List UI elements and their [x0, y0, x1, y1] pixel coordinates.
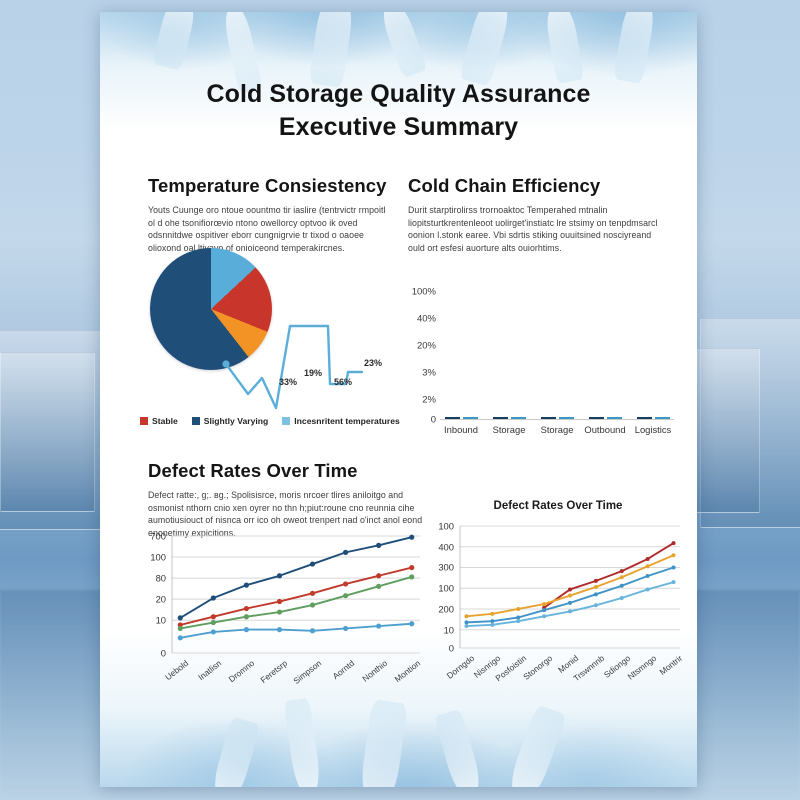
- line-chart-right: Defect Rates Over Time100400300100200100…: [430, 500, 686, 700]
- bar[interactable]: [493, 417, 508, 419]
- legend-label: Slightly Varying: [204, 416, 268, 426]
- bar-y-tick: 2%: [422, 394, 436, 405]
- bar[interactable]: [445, 417, 460, 419]
- line-y-tick: 0: [140, 648, 166, 659]
- bar[interactable]: [637, 417, 652, 419]
- data-point: [409, 621, 414, 626]
- line-y-tick: 300: [430, 562, 454, 573]
- data-point: [516, 607, 520, 611]
- data-point: [343, 550, 348, 555]
- line-y-tick: 0: [430, 643, 454, 654]
- data-point: [620, 569, 624, 573]
- data-point: [464, 624, 468, 628]
- bar-y-tick: 20%: [417, 340, 436, 351]
- section-temperature-consistency: Temperature Consiestency Youts Cuunge or…: [148, 175, 393, 254]
- data-point: [672, 565, 676, 569]
- data-point: [594, 603, 598, 607]
- line-chart-left: 7001008020100UeboldInatlisnDromnoFeretsr…: [140, 530, 428, 705]
- bar-y-tick: 40%: [417, 313, 436, 324]
- data-point: [464, 620, 468, 624]
- data-point: [409, 565, 414, 570]
- title-line-2: Executive Summary: [100, 111, 697, 144]
- data-point: [244, 614, 249, 619]
- bar-x-label: Logistics: [632, 424, 674, 435]
- line-y-tick: 100: [140, 552, 166, 563]
- data-point: [310, 591, 315, 596]
- data-point: [620, 575, 624, 579]
- data-point: [464, 614, 468, 618]
- bar-group[interactable]: [440, 417, 482, 419]
- bar-chart: 100%40%20%3%2%0 InboundStorageStorageOut…: [400, 282, 680, 457]
- bar-group[interactable]: [584, 417, 626, 419]
- data-point: [343, 626, 348, 631]
- data-point: [277, 627, 282, 632]
- data-point: [594, 592, 598, 596]
- data-point: [672, 553, 676, 557]
- data-point: [490, 612, 494, 616]
- data-point: [211, 620, 216, 625]
- data-point: [376, 573, 381, 578]
- data-point: [490, 619, 494, 623]
- data-point: [672, 541, 676, 545]
- data-point: [376, 584, 381, 589]
- line-series: [466, 555, 673, 616]
- legend-label: Incesnritent temperatures: [294, 416, 400, 426]
- data-point: [343, 581, 348, 586]
- legend-item-stable: Stable: [140, 416, 178, 426]
- data-point: [211, 595, 216, 600]
- data-point: [542, 602, 546, 606]
- data-point: [568, 594, 572, 598]
- line-y-tick: 100: [430, 521, 454, 532]
- legend-item-slightly-varying: Slightly Varying: [192, 416, 268, 426]
- data-point: [409, 574, 414, 579]
- data-point: [244, 583, 249, 588]
- data-point: [178, 626, 183, 631]
- data-point: [178, 615, 183, 620]
- line-y-tick: 80: [140, 573, 166, 584]
- pie-pct-label-4: 23%: [364, 358, 382, 368]
- data-point: [277, 573, 282, 578]
- title-line-1: Cold Storage Quality Assurance: [100, 78, 697, 111]
- data-point: [594, 579, 598, 583]
- data-point: [244, 606, 249, 611]
- data-point: [620, 596, 624, 600]
- pie-chart-legend: Stable Slightly Varying Incesnritent tem…: [140, 416, 440, 426]
- line-y-tick: 400: [430, 541, 454, 552]
- legend-swatch-icon: [192, 417, 200, 425]
- bar-x-label: Outbound: [584, 424, 626, 435]
- data-point: [211, 629, 216, 634]
- data-point: [310, 561, 315, 566]
- line-y-tick: 20: [140, 594, 166, 605]
- line-chart-plot: [140, 530, 428, 705]
- section-heading: Defect Rates Over Time: [148, 460, 423, 482]
- data-point: [310, 628, 315, 633]
- pie-callout-line: [140, 244, 410, 444]
- data-point: [594, 585, 598, 589]
- section-body-text: Durit starptirolirss trornoaktoc Tempera…: [408, 204, 666, 254]
- data-point: [620, 584, 624, 588]
- data-point: [646, 587, 650, 591]
- data-point: [277, 599, 282, 604]
- pie-pct-label-2: 19%: [304, 368, 322, 378]
- bar[interactable]: [655, 417, 670, 419]
- legend-swatch-icon: [140, 417, 148, 425]
- legend-swatch-icon: [282, 417, 290, 425]
- bar-chart-plot: [440, 292, 674, 420]
- pie-chart: 33% 19% 56% 23%: [140, 244, 410, 444]
- line-y-tick: 10: [140, 615, 166, 626]
- line-y-tick: 100: [430, 583, 454, 594]
- data-point: [178, 635, 183, 640]
- bar[interactable]: [511, 417, 526, 419]
- data-point: [516, 616, 520, 620]
- bar[interactable]: [589, 417, 604, 419]
- data-point: [409, 535, 414, 540]
- bar[interactable]: [607, 417, 622, 419]
- section-cold-chain-efficiency: Cold Chain Efficiency Durit starptirolir…: [408, 175, 666, 254]
- bar-y-tick: 0: [431, 415, 436, 426]
- bar-x-label: Storage: [536, 424, 578, 435]
- pie-pct-label-3: 56%: [334, 377, 352, 387]
- data-point: [568, 609, 572, 613]
- data-point: [672, 580, 676, 584]
- bar-y-tick: 3%: [422, 367, 436, 378]
- bar-group[interactable]: [632, 417, 674, 419]
- section-heading: Cold Chain Efficiency: [408, 175, 666, 197]
- bar-group[interactable]: [488, 417, 530, 419]
- poster-page: Cold Storage Quality Assurance Executive…: [100, 12, 697, 787]
- section-heading: Temperature Consiestency: [148, 175, 393, 197]
- bar-y-tick: 100%: [412, 287, 436, 298]
- data-point: [211, 614, 216, 619]
- data-point: [542, 608, 546, 612]
- data-point: [568, 601, 572, 605]
- data-point: [343, 593, 348, 598]
- data-point: [568, 587, 572, 591]
- bar[interactable]: [463, 417, 478, 419]
- poster-title: Cold Storage Quality Assurance Executive…: [100, 78, 697, 144]
- data-point: [542, 614, 546, 618]
- bar-chart-x-axis: InboundStorageStorageOutboundLogistics: [440, 424, 674, 435]
- data-point: [244, 627, 249, 632]
- section-defect-rates: Defect Rates Over Time Defect ratte:, g;…: [148, 460, 423, 539]
- legend-label: Stable: [152, 416, 178, 426]
- bar-x-label: Storage: [488, 424, 530, 435]
- pie-pct-label-1: 33%: [279, 377, 297, 387]
- bar[interactable]: [559, 417, 574, 419]
- data-point: [646, 564, 650, 568]
- bar[interactable]: [541, 417, 556, 419]
- legend-item-inconsistent-temperatures: Incesnritent temperatures: [282, 416, 400, 426]
- data-point: [490, 623, 494, 627]
- data-point: [646, 557, 650, 561]
- bar-chart-y-axis: 100%40%20%3%2%0: [400, 292, 436, 420]
- line-y-tick: 200: [430, 603, 454, 614]
- bar-group[interactable]: [536, 417, 578, 419]
- data-point: [376, 623, 381, 628]
- data-point: [646, 574, 650, 578]
- data-point: [277, 609, 282, 614]
- data-point: [310, 602, 315, 607]
- line-y-tick: 700: [140, 531, 166, 542]
- data-point: [376, 543, 381, 548]
- line-y-tick: 10: [430, 624, 454, 635]
- bar-x-label: Inbound: [440, 424, 482, 435]
- data-point: [516, 619, 520, 623]
